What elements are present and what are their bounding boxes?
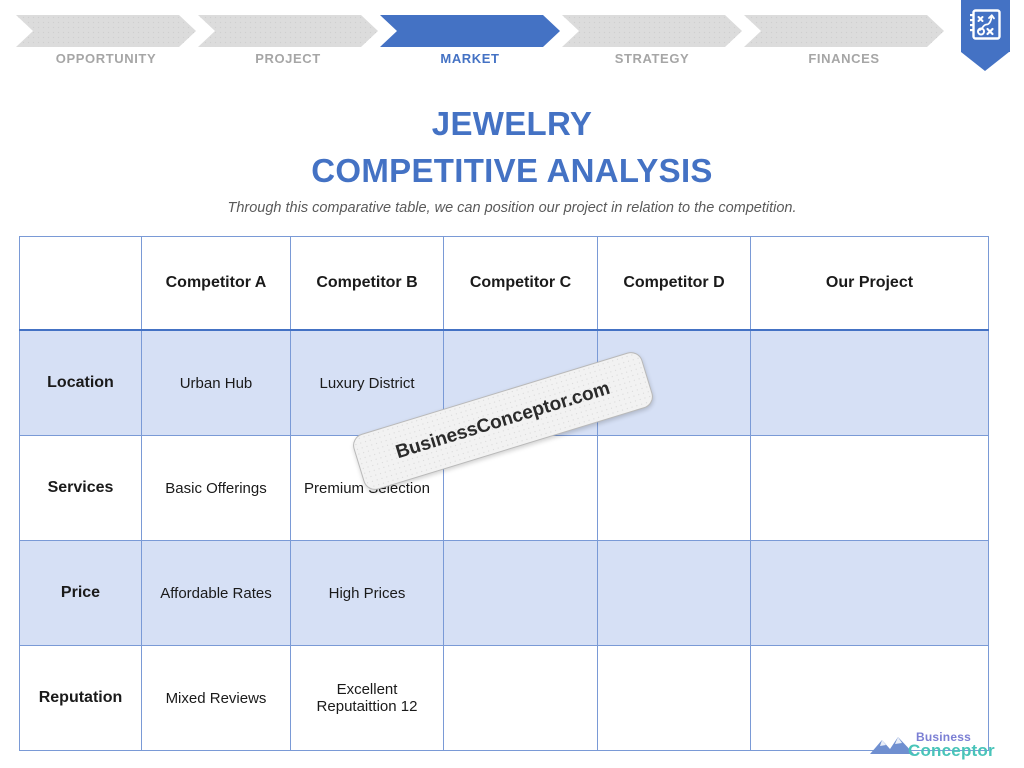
page-title-line1: JEWELRY xyxy=(0,100,1024,147)
chevron-shape-finances xyxy=(744,15,944,47)
cell-reputation-competitor-a[interactable]: Mixed Reviews xyxy=(142,646,291,751)
nav-step-opportunity[interactable]: OPPORTUNITY xyxy=(16,15,196,47)
nav-step-strategy[interactable]: STRATEGY xyxy=(562,15,742,47)
cell-services-our-project[interactable] xyxy=(751,436,989,541)
badge-tip xyxy=(961,52,1009,71)
row-label-reputation: Reputation xyxy=(20,646,142,751)
column-header-blank xyxy=(20,237,142,331)
nav-step-finances[interactable]: FINANCES xyxy=(744,15,944,47)
strategy-board-icon xyxy=(969,8,1002,42)
chevron-shape-opportunity xyxy=(16,15,196,47)
corner-badge xyxy=(961,0,1010,71)
cell-reputation-competitor-d[interactable] xyxy=(598,646,751,751)
table-header-row: Competitor A Competitor B Competitor C C… xyxy=(20,237,989,331)
nav-step-market[interactable]: MARKET xyxy=(380,15,560,47)
column-header-our-project: Our Project xyxy=(751,237,989,331)
page-title: JEWELRY COMPETITIVE ANALYSIS xyxy=(0,100,1024,194)
cell-services-competitor-a[interactable]: Basic Offerings xyxy=(142,436,291,541)
page-title-line2: COMPETITIVE ANALYSIS xyxy=(0,147,1024,194)
cell-price-competitor-d[interactable] xyxy=(598,541,751,646)
column-header-competitor-d: Competitor D xyxy=(598,237,751,331)
page-subtitle: Through this comparative table, we can p… xyxy=(0,200,1024,216)
nav-step-project[interactable]: PROJECT xyxy=(198,15,378,47)
nav-step-label: STRATEGY xyxy=(562,51,742,66)
row-label-location: Location xyxy=(20,330,142,436)
cell-services-competitor-d[interactable] xyxy=(598,436,751,541)
nav-step-label: OPPORTUNITY xyxy=(16,51,196,66)
nav-step-label: PROJECT xyxy=(198,51,378,66)
nav-step-label: FINANCES xyxy=(744,51,944,66)
chevron-shape-strategy xyxy=(562,15,742,47)
table-row: Price Affordable Rates High Prices xyxy=(20,541,989,646)
cell-location-competitor-a[interactable]: Urban Hub xyxy=(142,330,291,436)
cell-price-competitor-a[interactable]: Affordable Rates xyxy=(142,541,291,646)
cell-reputation-competitor-c[interactable] xyxy=(444,646,598,751)
step-nav: OPPORTUNITY PROJECT MARKET STRATEGY FINA… xyxy=(0,0,1024,80)
table-header: Competitor A Competitor B Competitor C C… xyxy=(20,237,989,331)
footer-logo: Business Conceptor xyxy=(868,730,1018,764)
column-header-competitor-b: Competitor B xyxy=(291,237,444,331)
nav-step-label: MARKET xyxy=(380,51,560,66)
row-label-price: Price xyxy=(20,541,142,646)
cell-location-our-project[interactable] xyxy=(751,330,989,436)
table-row: Services Basic Offerings Premium Selecti… xyxy=(20,436,989,541)
chevron-shape-project xyxy=(198,15,378,47)
column-header-competitor-c: Competitor C xyxy=(444,237,598,331)
cell-price-our-project[interactable] xyxy=(751,541,989,646)
row-label-services: Services xyxy=(20,436,142,541)
cell-price-competitor-b[interactable]: High Prices xyxy=(291,541,444,646)
cell-reputation-competitor-b[interactable]: Excellent Reputaittion 12 xyxy=(291,646,444,751)
chevron-shape-market xyxy=(380,15,560,47)
table-row: Reputation Mixed Reviews Excellent Reput… xyxy=(20,646,989,751)
footer-brand-bottom: Conceptor xyxy=(908,741,995,761)
competitive-analysis-table: Competitor A Competitor B Competitor C C… xyxy=(19,236,989,751)
column-header-competitor-a: Competitor A xyxy=(142,237,291,331)
cell-price-competitor-c[interactable] xyxy=(444,541,598,646)
